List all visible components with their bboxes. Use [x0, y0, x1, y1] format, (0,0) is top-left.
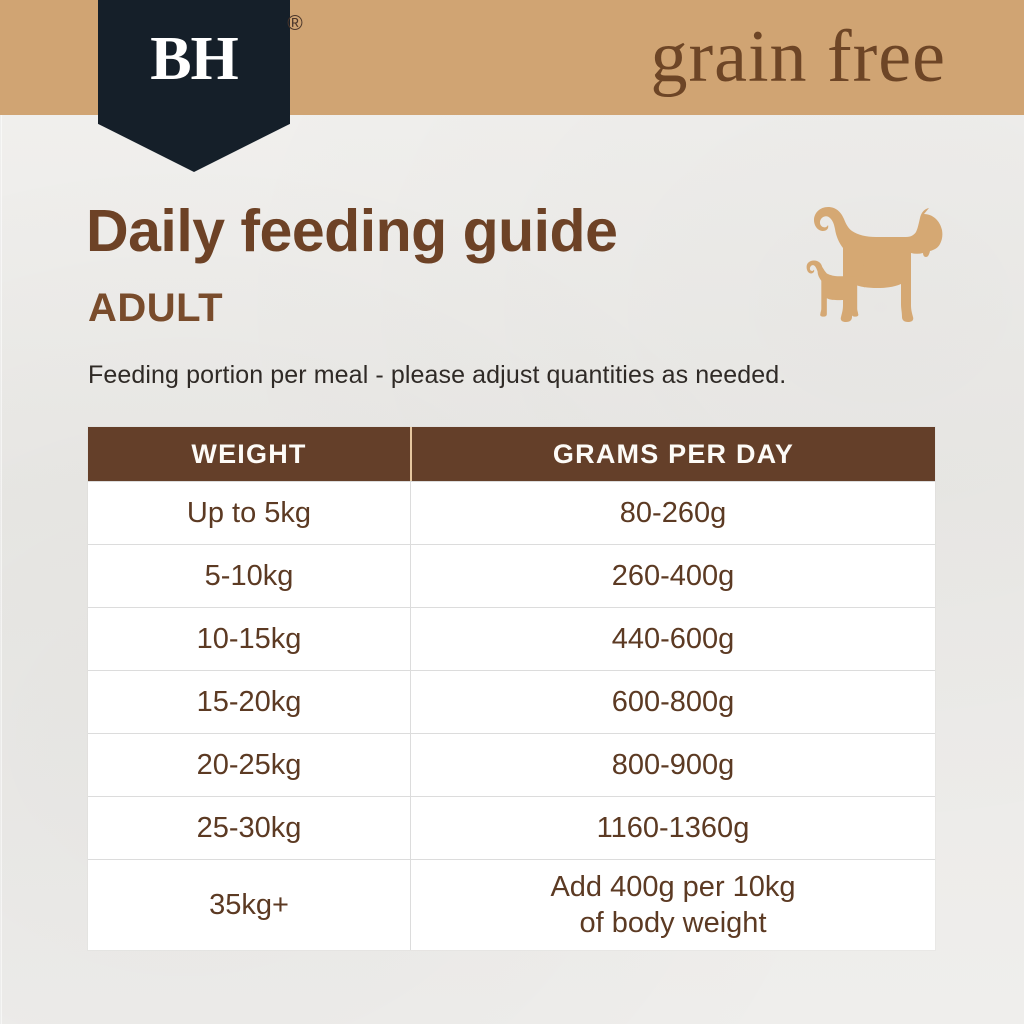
table-row: Up to 5kg 80-260g	[88, 481, 935, 544]
table-row: 25-30kg 1160-1360g	[88, 796, 935, 859]
cell-grams: 800-900g	[410, 734, 935, 796]
cell-grams: 1160-1360g	[410, 797, 935, 859]
cell-grams: Add 400g per 10kg of body weight	[410, 860, 935, 950]
table-row: 20-25kg 800-900g	[88, 733, 935, 796]
cell-weight: 10-15kg	[88, 608, 410, 670]
cell-weight: 15-20kg	[88, 671, 410, 733]
cell-weight: 35kg+	[88, 860, 410, 950]
cell-grams: 600-800g	[410, 671, 935, 733]
table-header-row: WEIGHT GRAMS PER DAY	[88, 427, 935, 481]
cell-weight: Up to 5kg	[88, 482, 410, 544]
life-stage-label: ADULT	[88, 285, 223, 331]
table-row: 35kg+ Add 400g per 10kg of body weight	[88, 859, 935, 950]
column-header-weight: WEIGHT	[88, 427, 410, 481]
table-row: 15-20kg 600-800g	[88, 670, 935, 733]
cell-grams: 80-260g	[410, 482, 935, 544]
brand-shield-logo: BH	[98, 0, 290, 172]
cell-grams-line-2: of body weight	[550, 905, 795, 941]
cell-grams: 260-400g	[410, 545, 935, 607]
cell-grams-line-1: Add 400g per 10kg	[550, 869, 795, 905]
cell-weight: 5-10kg	[88, 545, 410, 607]
page-title: Daily feeding guide	[86, 198, 617, 264]
cell-weight: 20-25kg	[88, 734, 410, 796]
feeding-table: WEIGHT GRAMS PER DAY Up to 5kg 80-260g 5…	[88, 427, 935, 950]
cell-grams: 440-600g	[410, 608, 935, 670]
table-row: 5-10kg 260-400g	[88, 544, 935, 607]
feeding-guide-page: BH ® grain free Daily feeding guide ADUL…	[0, 0, 1024, 1024]
registered-trademark-icon: ®	[283, 12, 307, 36]
feeding-note: Feeding portion per meal - please adjust…	[88, 360, 786, 390]
dog-and-puppy-icon	[774, 198, 954, 328]
brand-logo-text: BH	[150, 28, 238, 90]
cell-weight: 25-30kg	[88, 797, 410, 859]
table-row: 10-15kg 440-600g	[88, 607, 935, 670]
column-header-grams-per-day: GRAMS PER DAY	[410, 427, 935, 481]
grain-free-wordmark: grain free	[650, 14, 946, 100]
